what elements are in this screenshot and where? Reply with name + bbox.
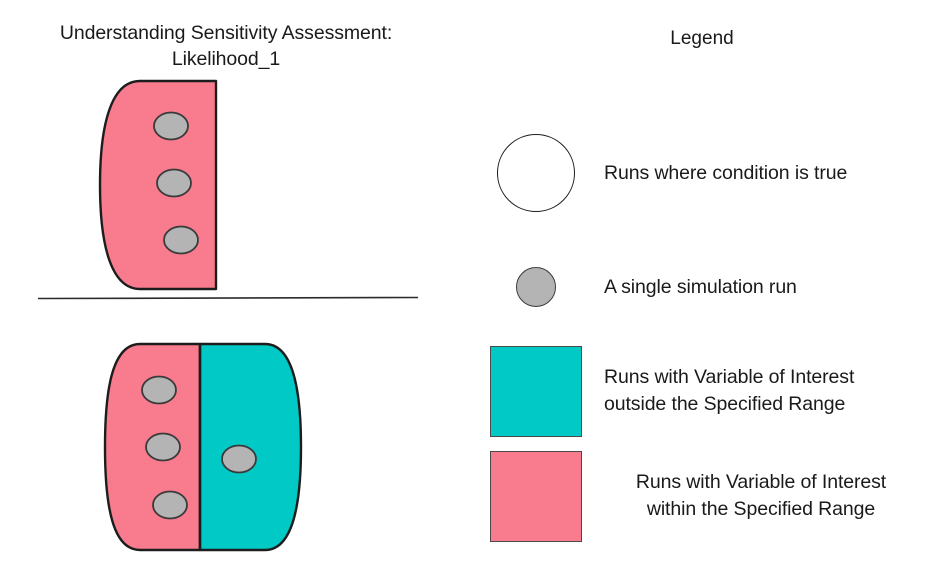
gray-circle-icon [516,267,556,307]
lower-shape-cyan-region [200,344,301,550]
legend-swatch-cell [468,451,604,542]
hollow-circle-icon [497,134,575,212]
legend-title: Legend [468,27,936,51]
simulation-run-dot [142,377,176,404]
legend-item-label: Runs with Variable of Interest outside t… [604,364,936,418]
simulation-run-dot [157,170,191,197]
legend-item-label: Runs with Variable of Interest within th… [604,469,936,523]
legend-swatch-cell [468,267,604,307]
legend-item-condition-true: Runs where condition is true [468,133,936,213]
simulation-run-dot [153,492,187,519]
lower-condition-shape [105,344,301,550]
horizontal-divider [38,298,418,299]
legend-item-label: A single simulation run [604,274,936,301]
sensitivity-assessment-diagram: Understanding Sensitivity Assessment: Li… [0,0,936,570]
simulation-run-dot [146,434,180,461]
pink-square-icon [490,451,582,542]
simulation-run-dot [154,113,188,140]
legend-item-single-run: A single simulation run [468,267,936,307]
simulation-run-dot [222,446,256,473]
cyan-square-icon [490,346,582,437]
legend-item-outside-range: Runs with Variable of Interest outside t… [468,345,936,437]
upper-condition-shape [100,81,216,289]
legend-item-within-range: Runs with Variable of Interest within th… [468,450,936,542]
legend-panel: Legend Runs where condition is true A si… [468,0,936,570]
legend-item-label: Runs where condition is true [604,160,936,187]
simulation-run-dot [164,227,198,254]
legend-swatch-cell [468,346,604,437]
legend-swatch-cell [468,134,604,212]
